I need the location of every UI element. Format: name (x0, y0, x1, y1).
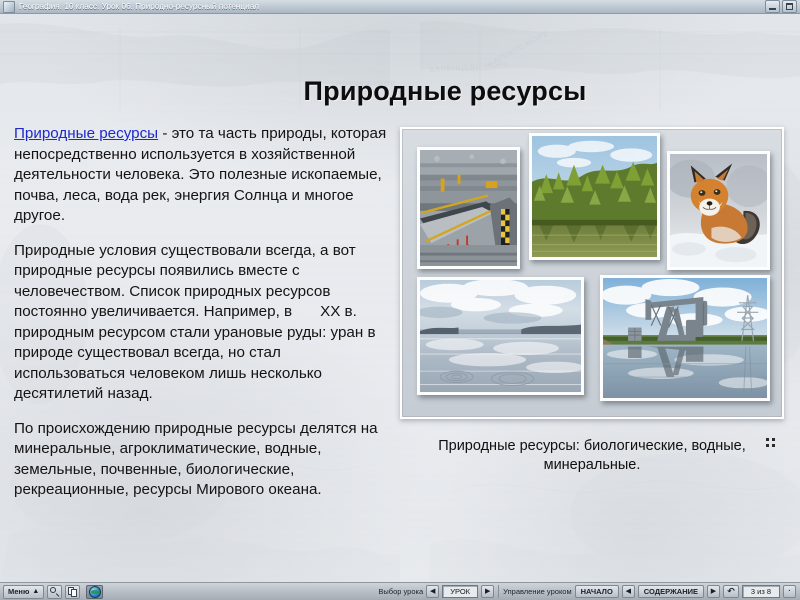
dot (772, 438, 775, 441)
resize-dots-icon[interactable] (766, 438, 777, 449)
lesson-select-group: Выбор урока ◀ УРОК ▶ (378, 585, 494, 598)
lesson-select-label: Выбор урока (378, 587, 423, 596)
start-button[interactable]: НАЧАЛО (575, 585, 619, 598)
open-pit-mine-conveyor-art (420, 150, 517, 266)
dot (766, 438, 769, 441)
paragraph-2-part-a: Природные условия существовали всегда, а… (14, 242, 356, 321)
calm-lake-clouds-art (420, 280, 581, 392)
page-counter-field: 3 из 8 (742, 585, 780, 598)
contents-button-label: СОДЕРЖАНИЕ (644, 587, 698, 596)
lesson-prev-button[interactable]: ◀ (426, 585, 439, 598)
restore-button[interactable] (782, 0, 797, 13)
slide-canvas: БАРЕНЦЕВО МОРЕ КАРСКОЕ МОРЕ НОРВЕЖСКОЕ М… (0, 14, 800, 582)
photo-forest-lake-reflection[interactable] (529, 133, 660, 260)
ellipsis-icon: · (788, 588, 790, 595)
lesson-control-group: Управление уроком НАЧАЛО ◀ СОДЕРЖАНИЕ ▶ … (503, 585, 796, 598)
svg-text:БАРЕНЦЕВО МОРЕ: БАРЕНЦЕВО МОРЕ (430, 61, 510, 74)
chevron-right-icon: ▶ (485, 588, 490, 595)
window-title-bar: География. 10 класс. Урок 06. Природно-р… (0, 0, 800, 14)
lesson-tag-field[interactable]: УРОК (442, 585, 478, 598)
window-title: География. 10 класс. Урок 06. Природно-р… (19, 2, 765, 11)
app-icon (3, 1, 15, 13)
zoom-tool-button[interactable] (47, 585, 62, 599)
dot (766, 444, 769, 447)
minimize-button[interactable] (765, 0, 780, 13)
menu-caret-up-icon: ▲ (32, 588, 39, 595)
image-collage-panel (400, 127, 784, 419)
contents-prev-button[interactable]: ◀ (622, 585, 635, 598)
natural-resources-link[interactable]: Природные ресурсы (14, 125, 158, 142)
dot (772, 444, 775, 447)
slide-title-text: Природные ресурсы (214, 76, 587, 107)
restore-icon (783, 1, 796, 12)
photo-red-fox-in-snow[interactable] (667, 151, 770, 270)
bottom-toolbar: Меню ▲ Выбор урока ◀ УРОК ▶ Управление у… (0, 582, 800, 600)
chevron-left-icon: ◀ (430, 588, 435, 595)
chevron-right-icon: ▶ (711, 588, 716, 595)
menu-button[interactable]: Меню ▲ (3, 585, 44, 599)
red-fox-in-snow-art (670, 154, 767, 267)
browser-button[interactable] (86, 585, 103, 599)
photo-calm-lake-clouds[interactable] (417, 277, 584, 395)
paragraph-1: Природные ресурсы - это та часть природы… (14, 124, 394, 227)
contents-button[interactable]: СОДЕРЖАНИЕ (638, 585, 704, 598)
collage-caption: Природные ресурсы: биологические, водные… (404, 437, 780, 475)
svg-text:КАРСКОЕ МОРЕ: КАРСКОЕ МОРЕ (488, 30, 551, 68)
contents-next-button[interactable]: ▶ (707, 585, 720, 598)
toolbar-divider (498, 585, 499, 598)
photo-open-pit-mine-conveyor[interactable] (417, 147, 520, 269)
forest-lake-reflection-art (532, 136, 657, 257)
start-button-label: НАЧАЛО (581, 587, 613, 596)
window-controls (765, 0, 797, 13)
lesson-control-label: Управление уроком (503, 587, 571, 596)
copy-pages-button[interactable] (65, 585, 80, 599)
paragraph-3: По происхождению природные ресурсы делят… (14, 419, 394, 501)
oil-pumpjack-water-art (603, 278, 767, 398)
magnifier-icon (50, 587, 59, 596)
slide-title: Природные ресурсы (0, 76, 800, 107)
copy-pages-icon (68, 587, 78, 597)
lesson-next-button[interactable]: ▶ (481, 585, 494, 598)
minimize-icon (766, 1, 779, 12)
back-button[interactable]: ↶ (723, 585, 739, 598)
back-arrow-icon: ↶ (726, 587, 737, 596)
photo-oil-pumpjack-water[interactable] (600, 275, 770, 401)
presentation-window: География. 10 класс. Урок 06. Природно-р… (0, 0, 800, 600)
globe-icon (89, 586, 101, 598)
page-options-button[interactable]: · (783, 585, 796, 598)
paragraph-2: Природные условия существовали всегда, а… (14, 241, 394, 405)
slide-body-text: Природные ресурсы - это та часть природы… (14, 124, 394, 515)
chevron-left-icon: ◀ (626, 588, 631, 595)
menu-button-label: Меню (8, 587, 29, 596)
